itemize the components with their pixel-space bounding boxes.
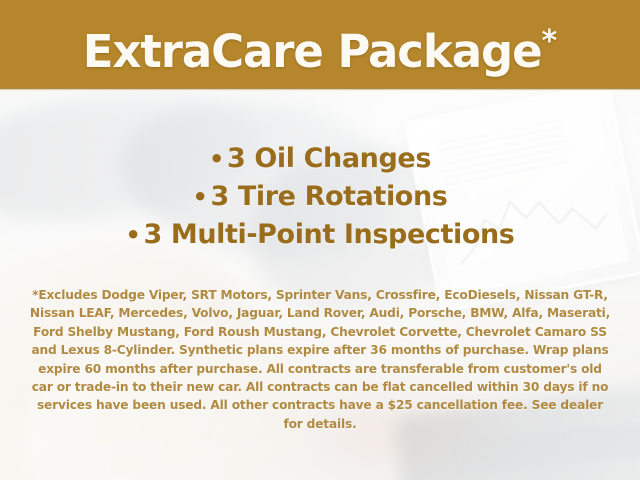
list-item: •3 Tire Rotations: [0, 178, 640, 216]
list-item-label: 3 Oil Changes: [227, 143, 431, 174]
disclaimer-text: *Excludes Dodge Viper, SRT Motors, Sprin…: [28, 286, 612, 433]
list-item-label: 3 Multi-Point Inspections: [143, 219, 514, 250]
benefits-list: •3 Oil Changes •3 Tire Rotations •3 Mult…: [0, 140, 640, 254]
list-item: •3 Multi-Point Inspections: [0, 216, 640, 254]
bullet-icon: •: [209, 145, 227, 173]
list-item-label: 3 Tire Rotations: [210, 181, 447, 212]
bullet-icon: •: [126, 221, 144, 249]
header-band: ExtraCare Package*: [0, 0, 640, 91]
page-title-asterisk: *: [542, 24, 558, 59]
bullet-icon: •: [193, 183, 211, 211]
page-title: ExtraCare Package*: [0, 11, 640, 83]
extracare-package-ad: ExtraCare Package* •3 Oil Changes •3 Tir…: [0, 0, 640, 480]
page-title-text: ExtraCare Package: [83, 25, 542, 78]
list-item: •3 Oil Changes: [0, 140, 640, 178]
